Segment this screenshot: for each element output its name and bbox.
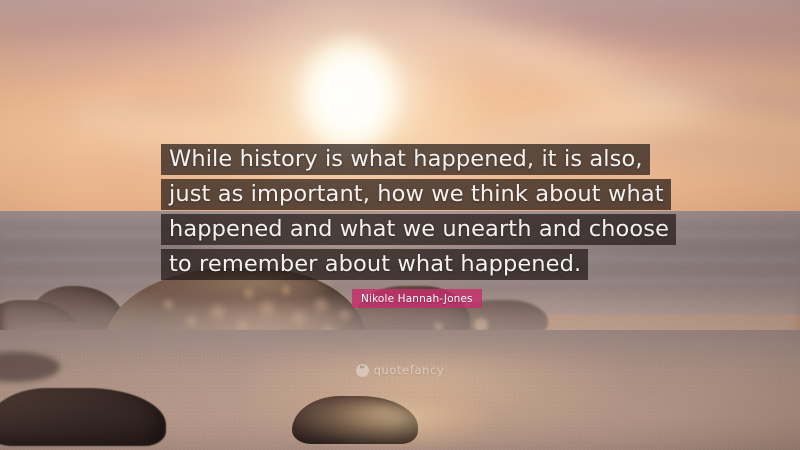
quote-text-block: While history is what happened, it is al…	[161, 144, 681, 284]
quote-line: While history is what happened, it is al…	[161, 144, 650, 175]
quote-poster: While history is what happened, it is al…	[0, 0, 800, 450]
author-name: Nikole Hannah-Jones	[361, 293, 473, 305]
wet-sand-reflection	[300, 404, 490, 450]
quote-line: to remember about what happened.	[161, 249, 588, 280]
quote-line: just as important, how we think about wh…	[161, 179, 671, 210]
quote-line: happened and what we unearth and choose	[161, 214, 676, 245]
author-badge[interactable]: Nikole Hannah-Jones	[352, 289, 482, 308]
sun-icon	[291, 30, 409, 162]
